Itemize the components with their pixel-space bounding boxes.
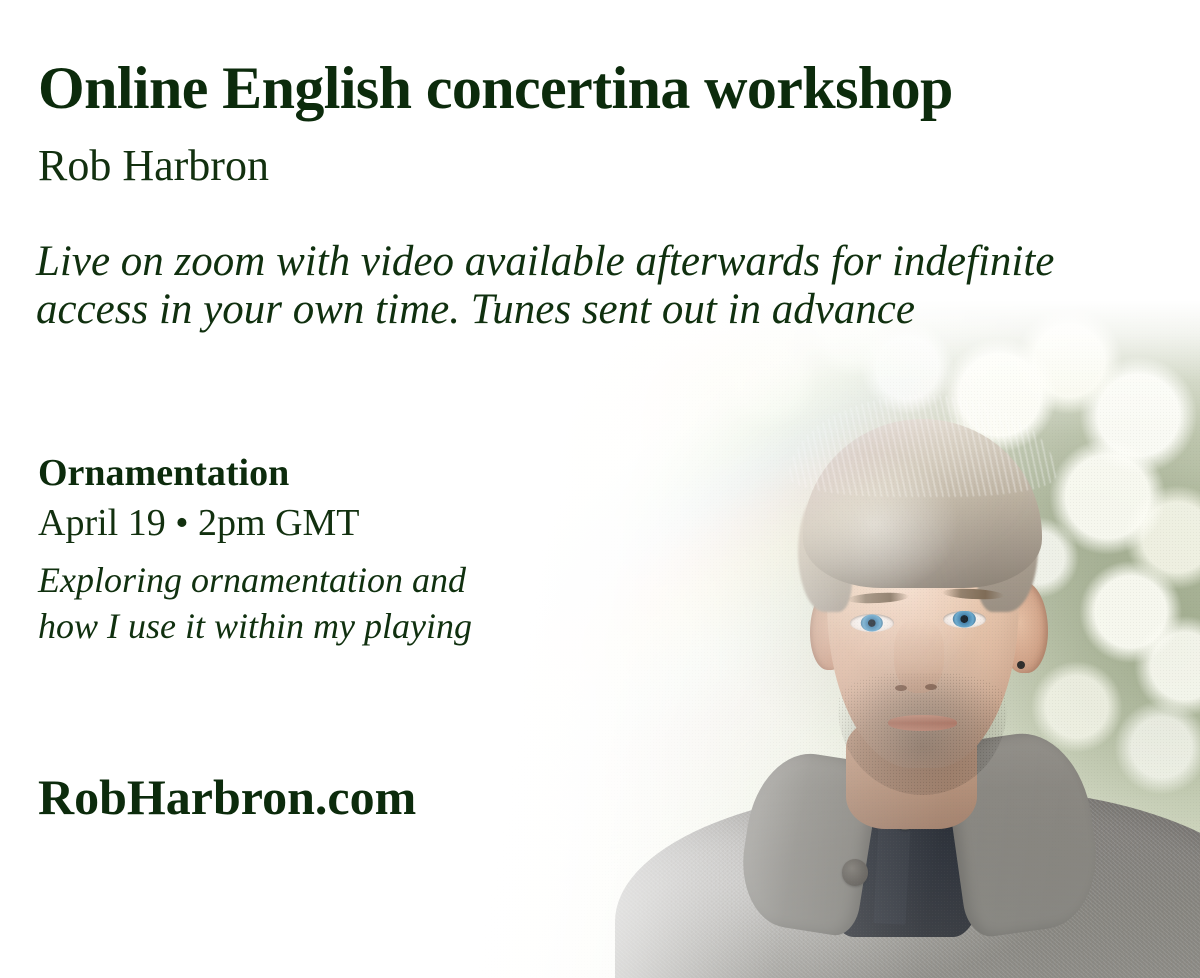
presenter-name: Rob Harbron xyxy=(38,140,269,191)
poster-title: Online English concertina workshop xyxy=(38,54,953,123)
workshop-blurb: Live on zoom with video available afterw… xyxy=(36,238,1166,334)
poster-content: Online English concertina workshop Rob H… xyxy=(0,0,1200,978)
session-description-line-1: Exploring ornamentation and xyxy=(38,557,678,603)
poster-canvas: Online English concertina workshop Rob H… xyxy=(0,0,1200,978)
session-block: Ornamentation April 19 • 2pm GMT Explori… xyxy=(38,452,678,649)
session-datetime: April 19 • 2pm GMT xyxy=(38,500,678,548)
session-description-line-2: how I use it within my playing xyxy=(38,603,678,649)
session-name: Ornamentation xyxy=(38,452,678,496)
website-url[interactable]: RobHarbron.com xyxy=(38,768,416,826)
session-description: Exploring ornamentation and how I use it… xyxy=(38,557,678,649)
